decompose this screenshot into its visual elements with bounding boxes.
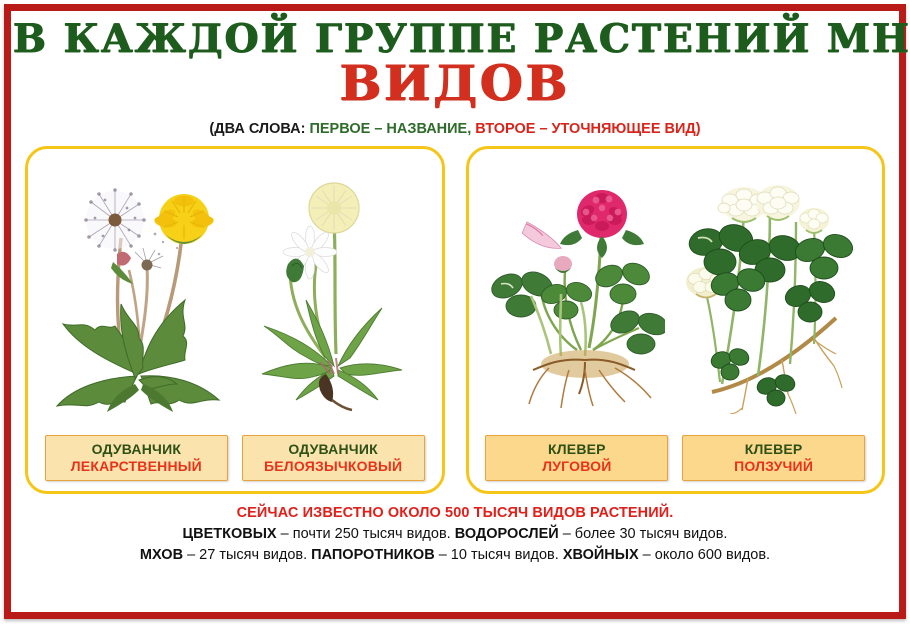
footer-text-flowering: – почти 250 тысяч видов.: [277, 526, 455, 542]
panel-clovers-art-row: [479, 157, 873, 435]
label-red-clover[interactable]: КЛЕВЕР ЛУГОВОЙ: [485, 435, 668, 481]
label-genus: КЛЕВЕР: [490, 441, 663, 458]
label-genus: КЛЕВЕР: [687, 441, 860, 458]
label-species: БЕЛОЯЗЫЧКОВЫЙ: [247, 458, 420, 475]
subtitle-part-green: ПЕРВОЕ – НАЗВАНИЕ,: [309, 121, 475, 137]
label-dandelion-officinale[interactable]: ОДУВАНЧИК ЛЕКАРСТВЕННЫЙ: [45, 435, 228, 481]
footer-term-algae: ВОДОРОСЛЕЙ: [455, 526, 559, 542]
footer-statistics: СЕЙЧАС ИЗВЕСТНО ОКОЛО 500 ТЫСЯЧ ВИДОВ РА…: [13, 494, 897, 563]
footer-text-algae: – более 30 тысяч видов.: [559, 526, 728, 542]
specimen-panels: ОДУВАНЧИК ЛЕКАРСТВЕННЫЙ ОДУВАНЧИК БЕЛОЯЗ…: [13, 137, 897, 494]
footer-term-ferns: ПАПОРОТНИКОВ: [311, 547, 435, 563]
specimen-white-clover: [675, 157, 872, 435]
red-clover-illustration-icon: [479, 157, 676, 435]
panel-clovers-labels: КЛЕВЕР ЛУГОВОЙ КЛЕВЕР ПОЛЗУЧИЙ: [479, 435, 873, 481]
label-genus: ОДУВАНЧИК: [247, 441, 420, 458]
poster-root: В КАЖДОЙ ГРУППЕ РАСТЕНИЙ МНОГО ВИДОВ (ДВ…: [0, 0, 910, 640]
footer-term-mosses: МХОВ: [140, 547, 183, 563]
dandelion-officinale-illustration-icon: [38, 157, 235, 435]
label-species: ПОЛЗУЧИЙ: [687, 458, 860, 475]
specimen-dandelion-officinale: [38, 157, 235, 435]
label-dandelion-leucoglossum[interactable]: ОДУВАНЧИК БЕЛОЯЗЫЧКОВЫЙ: [242, 435, 425, 481]
footer-term-conifers: ХВОЙНЫХ: [563, 547, 639, 563]
subtitle: (ДВА СЛОВА: ПЕРВОЕ – НАЗВАНИЕ, ВТОРОЕ – …: [13, 121, 897, 137]
footer-text-conifers: – около 600 видов.: [639, 547, 770, 563]
subtitle-part-red: ВТОРОЕ – УТОЧНЯЮЩЕЕ ВИД): [475, 121, 700, 137]
panel-dandelions-art-row: [38, 157, 432, 435]
page-title-line2: ВИДОВ: [13, 58, 897, 109]
panel-clovers: КЛЕВЕР ЛУГОВОЙ КЛЕВЕР ПОЛЗУЧИЙ: [466, 146, 886, 494]
label-species: ЛЕКАРСТВЕННЫЙ: [50, 458, 223, 475]
dandelion-leucoglossum-illustration-icon: [235, 157, 432, 435]
footer-text-ferns: – 10 тысяч видов.: [435, 547, 563, 563]
footer-text-mosses: – 27 тысяч видов.: [183, 547, 311, 563]
footer-line-3: МХОВ – 27 тысяч видов. ПАПОРОТНИКОВ – 10…: [23, 547, 887, 563]
specimen-red-clover: [479, 157, 676, 435]
specimen-dandelion-leucoglossum: [235, 157, 432, 435]
red-frame-border: В КАЖДОЙ ГРУППЕ РАСТЕНИЙ МНОГО ВИДОВ (ДВ…: [4, 4, 906, 619]
footer-term-flowering: ЦВЕТКОВЫХ: [183, 526, 277, 542]
poster-heading: В КАЖДОЙ ГРУППЕ РАСТЕНИЙ МНОГО ВИДОВ: [13, 13, 897, 109]
subtitle-part-black: (ДВА СЛОВА:: [209, 121, 309, 137]
panel-dandelions-labels: ОДУВАНЧИК ЛЕКАРСТВЕННЫЙ ОДУВАНЧИК БЕЛОЯЗ…: [38, 435, 432, 481]
panel-dandelions: ОДУВАНЧИК ЛЕКАРСТВЕННЫЙ ОДУВАНЧИК БЕЛОЯЗ…: [25, 146, 445, 494]
label-genus: ОДУВАНЧИК: [50, 441, 223, 458]
footer-headline: СЕЙЧАС ИЗВЕСТНО ОКОЛО 500 ТЫСЯЧ ВИДОВ РА…: [23, 505, 887, 521]
footer-line-2: ЦВЕТКОВЫХ – почти 250 тысяч видов. ВОДОР…: [23, 526, 887, 542]
label-white-clover[interactable]: КЛЕВЕР ПОЛЗУЧИЙ: [682, 435, 865, 481]
frame-inner-area: В КАЖДОЙ ГРУППЕ РАСТЕНИЙ МНОГО ВИДОВ (ДВ…: [11, 11, 899, 612]
white-clover-illustration-icon: [675, 157, 872, 435]
label-species: ЛУГОВОЙ: [490, 458, 663, 475]
